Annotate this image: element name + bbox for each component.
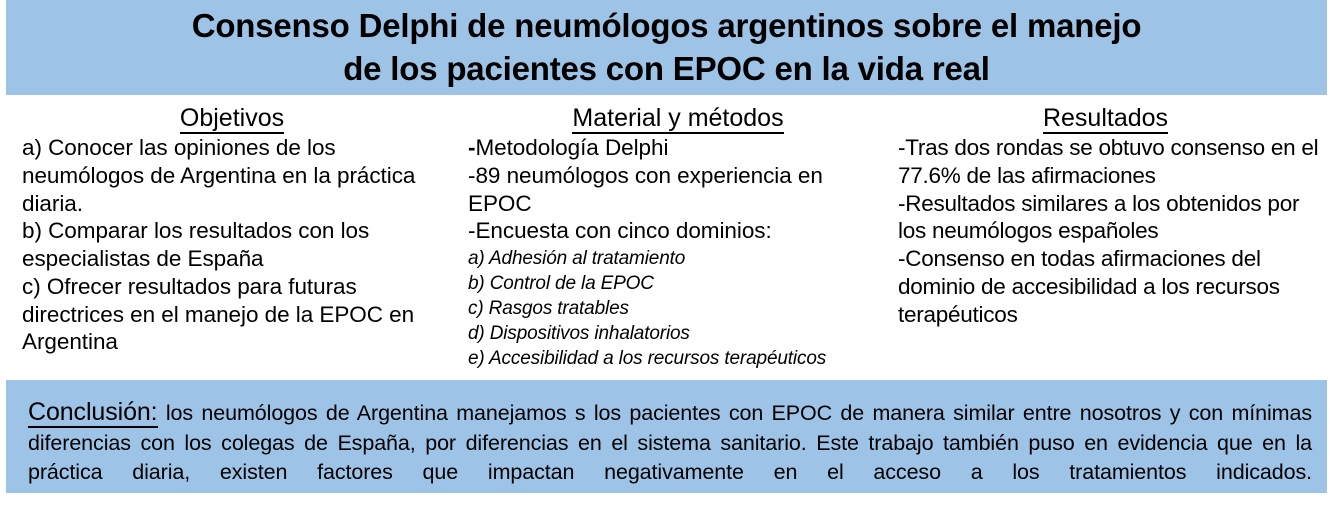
columns-region: Objetivos a) Conocer las opiniones de lo…	[0, 95, 1333, 380]
bottom-margin	[0, 493, 1333, 502]
column-objetivos-heading-text: Objetivos	[180, 104, 284, 134]
column-material-heading: Material y métodos	[468, 104, 888, 132]
poster-title: Consenso Delphi de neumólogos argentinos…	[192, 5, 1142, 89]
column-objetivos-heading: Objetivos	[22, 104, 442, 132]
column-resultados-heading-text: Resultados	[1043, 104, 1168, 134]
column-resultados-heading: Resultados	[898, 104, 1323, 132]
column-material-sublist: a) Adhesión al tratamiento b) Control de…	[468, 246, 888, 371]
column-material: Material y métodos -Metodología Delphi -…	[468, 95, 888, 372]
column-objetivos-body: a) Conocer las opiniones de los neumólog…	[22, 134, 442, 356]
column-resultados-body: -Tras dos rondas se obtuvo consenso en e…	[898, 134, 1323, 328]
column-material-lead-text: Metodología Delphi	[475, 135, 668, 160]
conclusion-text: los neumólogos de Argentina manejamos s …	[28, 401, 1312, 484]
column-resultados: Resultados -Tras dos rondas se obtuvo co…	[898, 95, 1323, 328]
column-material-heading-text: Material y métodos	[572, 104, 783, 134]
title-band: Consenso Delphi de neumólogos argentinos…	[6, 0, 1327, 95]
column-material-lead-line: -Metodología Delphi	[468, 134, 888, 162]
poster-graphical-abstract: Consenso Delphi de neumólogos argentinos…	[0, 0, 1333, 502]
conclusion-band: Conclusión: los neumólogos de Argentina …	[6, 380, 1327, 493]
column-objetivos: Objetivos a) Conocer las opiniones de lo…	[22, 95, 442, 356]
conclusion-label: Conclusión:	[28, 398, 158, 428]
column-material-body: -89 neumólogos con experiencia en EPOC -…	[468, 162, 888, 245]
